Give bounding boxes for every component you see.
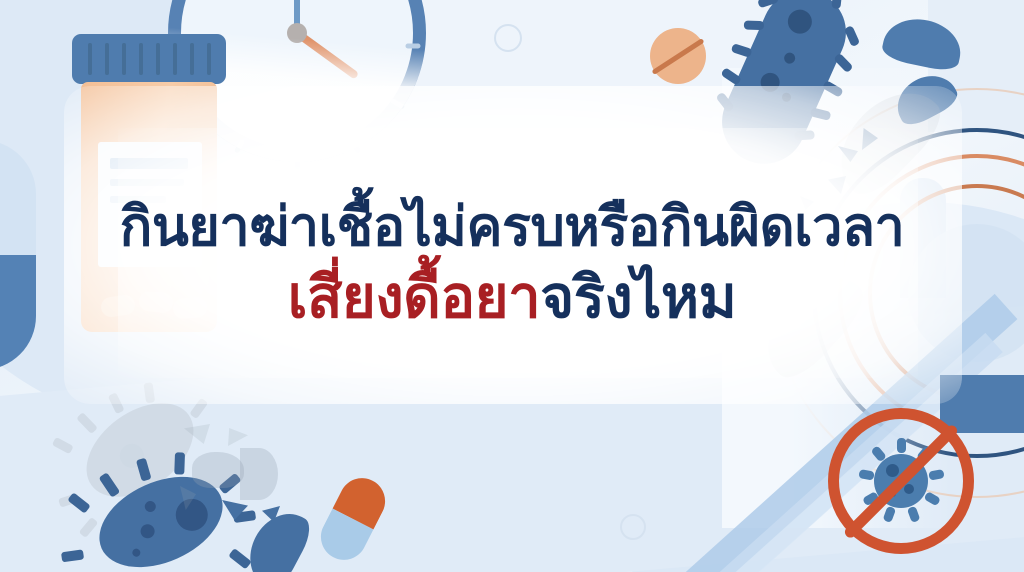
clock-center-hub bbox=[287, 23, 307, 43]
poster-canvas: กินยาฆ่าเชื้อไม่ครบหรือกินผิดเวลา เสี่ยง… bbox=[0, 0, 1024, 572]
decorative-outline-circle bbox=[620, 514, 646, 540]
cap-rib bbox=[139, 43, 143, 75]
bacteria-fragment-faded bbox=[192, 452, 244, 488]
cap-rib bbox=[156, 43, 160, 75]
cap-rib bbox=[88, 43, 92, 75]
bacterium-pilus bbox=[744, 20, 764, 30]
cap-rib bbox=[105, 43, 109, 75]
pill-bottle-cap bbox=[72, 34, 226, 84]
bacteria-fragment-faded bbox=[240, 448, 278, 500]
no-bacteria-prohibition-icon bbox=[828, 408, 974, 554]
headline-line-2-red: เสี่ยงดื้อยา bbox=[288, 263, 541, 331]
cap-rib bbox=[122, 43, 126, 75]
bacterium-pilus bbox=[174, 452, 185, 474]
headline-block: กินยาฆ่าเชื้อไม่ครบหรือกินผิดเวลา เสี่ยง… bbox=[0, 198, 1024, 329]
clock-tick bbox=[405, 44, 420, 49]
decorative-outline-circle bbox=[494, 24, 522, 52]
headline-line-1: กินยาฆ่าเชื้อไม่ครบหรือกินผิดเวลา bbox=[0, 198, 1024, 255]
bacterium-pilus bbox=[831, 0, 842, 9]
tablet-pill-illustration bbox=[650, 28, 706, 84]
bacterium-pilus bbox=[52, 437, 74, 454]
cap-rib bbox=[190, 43, 194, 75]
tablet-score-line bbox=[651, 38, 704, 75]
cap-rib bbox=[207, 43, 211, 75]
cap-rib bbox=[173, 43, 177, 75]
headline-line-2-navy: จริงไหม bbox=[540, 263, 736, 331]
headline-line-2: เสี่ยงดื้อยาจริงไหม bbox=[0, 267, 1024, 328]
